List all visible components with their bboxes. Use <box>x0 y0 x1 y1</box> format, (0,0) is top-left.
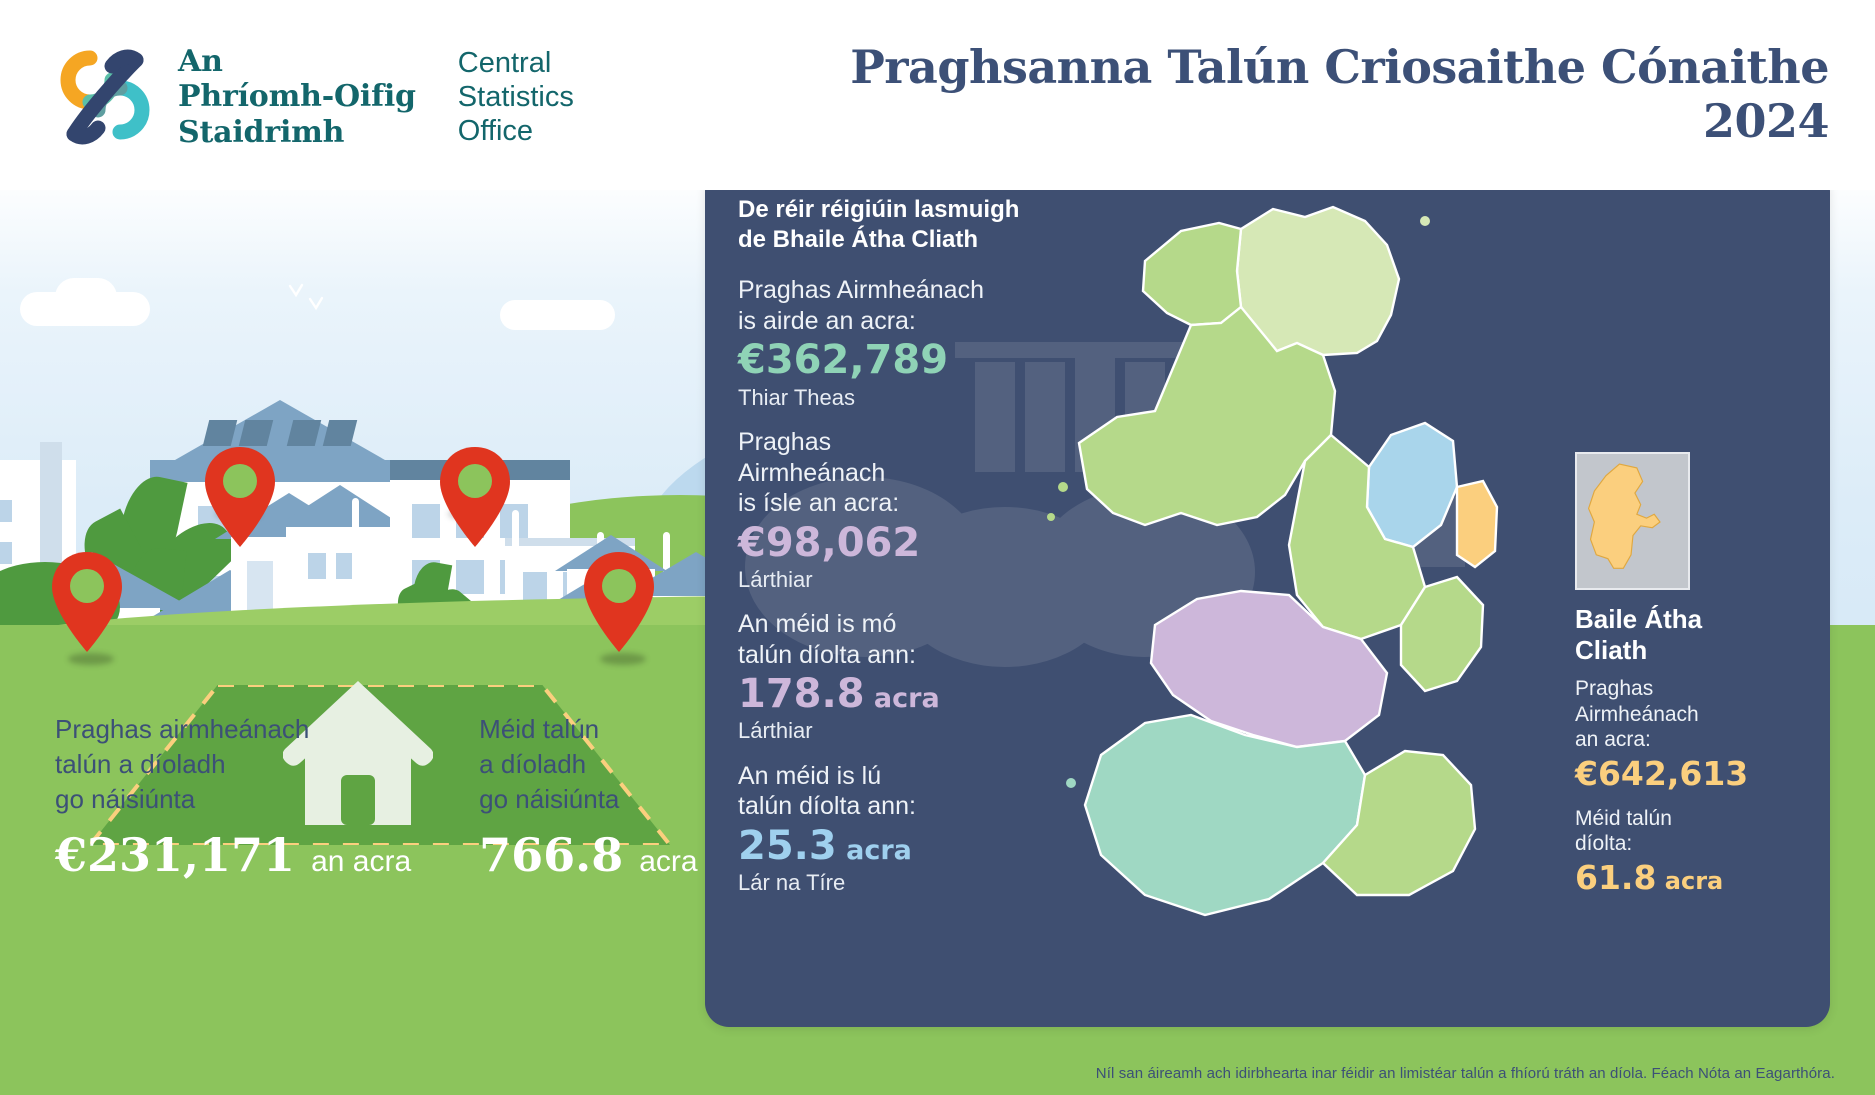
ireland-regions-map-icon <box>1005 195 1565 1015</box>
regional-panel: De réir réigiúin lasmuigh de Bhaile Átha… <box>705 167 1830 1027</box>
stat-median-price: Praghas airmheánach talún a díoladh go n… <box>55 712 411 880</box>
page-title-year: 2024 <box>850 94 1829 148</box>
panel-stat-0-value: €362,789 <box>738 337 1038 384</box>
pin-shadow-4 <box>600 653 646 665</box>
panel-stat-2-value: 178.8 acra <box>738 671 1038 718</box>
dublin-name: Baile Átha Cliath <box>1575 604 1790 666</box>
panel-stat-2-unit: acra <box>865 683 940 714</box>
stat-median-price-number: €231,171 <box>55 828 295 882</box>
stat-median-price-value: €231,171 an acra <box>55 831 411 879</box>
panel-stat-2-region: Lárthiar <box>738 718 1038 744</box>
panel-stat-3-label: An méid is lú talún díolta ann: <box>738 761 1038 822</box>
national-stats: Praghas airmheánach talún a díoladh go n… <box>55 712 695 880</box>
region-donegal <box>1143 223 1241 325</box>
panel-heading: De réir réigiúin lasmuigh de Bhaile Átha… <box>738 195 1038 255</box>
panel-stat-1-label: Praghas Airmheánach is ísle an acra: <box>738 427 1038 519</box>
cso-logo: An Phríomh-Oifig Staidrimh Central Stati… <box>48 38 574 156</box>
panel-stat-lowest-price: Praghas Airmheánach is ísle an acra: €98… <box>738 427 1038 593</box>
panel-stat-smallest-size: An méid is lú talún díolta ann: 25.3 acr… <box>738 761 1038 897</box>
region-mid-east <box>1367 423 1457 547</box>
stat-median-price-label: Praghas airmheánach talún a díoladh go n… <box>55 712 411 817</box>
dublin-size-label: Méid talún díolta: <box>1575 806 1790 856</box>
panel-stat-1-value: €98,062 <box>738 520 1038 567</box>
map-pin-2 <box>203 445 277 549</box>
panel-stat-1-number: €98,062 <box>738 520 920 566</box>
cso-infinity-logo-icon <box>48 38 160 156</box>
ireland-map-container <box>1005 195 1565 1015</box>
stat-median-size-label: Méid talún a díoladh go náisiúnta <box>479 712 697 817</box>
panel-stat-3-region: Lár na Tíre <box>738 870 1038 896</box>
stat-median-size-number: 766.8 <box>479 828 623 882</box>
panel-stat-1-region: Lárthiar <box>738 567 1038 593</box>
panel-stat-highest-price: Praghas Airmheánach is airde an acra: €3… <box>738 275 1038 411</box>
panel-stat-2-number: 178.8 <box>738 671 865 717</box>
region-dublin <box>1457 481 1497 567</box>
stat-median-size-unit: acra <box>639 845 697 878</box>
panel-stat-3-unit: acra <box>837 835 912 866</box>
birds-icon <box>288 282 348 322</box>
dublin-price-label: Praghas Airmheánach an acra: <box>1575 676 1790 752</box>
page-title-text: Praghsanna Talún Criosaithe Cónaithe <box>850 40 1829 94</box>
cso-logo-irish-name: An Phríomh-Oifig Staidrimh <box>178 44 416 150</box>
map-pin-4 <box>582 550 656 654</box>
panel-stat-3-number: 25.3 <box>738 823 837 869</box>
dublin-size-unit: acra <box>1656 867 1723 895</box>
stat-median-size: Méid talún a díoladh go náisiúnta 766.8 … <box>479 712 697 880</box>
dublin-block: Baile Átha Cliath Praghas Airmheánach an… <box>1575 452 1790 910</box>
map-pin-3 <box>438 445 512 549</box>
cso-logo-english-name: Central Statistics Office <box>458 46 574 149</box>
page-title: Praghsanna Talún Criosaithe Cónaithe 202… <box>850 40 1829 149</box>
dublin-size-value: 61.8 acra <box>1575 857 1790 900</box>
panel-stat-0-label: Praghas Airmheánach is airde an acra: <box>738 275 1038 336</box>
panel-stat-0-number: €362,789 <box>738 337 948 383</box>
stat-median-size-value: 766.8 acra <box>479 831 697 879</box>
header-band: An Phríomh-Oifig Staidrimh Central Stati… <box>0 0 1875 190</box>
panel-text-column: De réir réigiúin lasmuigh de Bhaile Átha… <box>738 195 1038 912</box>
cloud-2 <box>500 300 615 330</box>
pin-shadow-1 <box>68 653 114 665</box>
dublin-size-number: 61.8 <box>1575 858 1656 897</box>
dublin-county-map-icon <box>1575 452 1690 590</box>
dublin-price-value: €642,613 <box>1575 753 1790 796</box>
panel-stat-0-region: Thiar Theas <box>738 385 1038 411</box>
footnote: Níl san áireamh ach idirbhearta inar féi… <box>1096 1065 1835 1082</box>
panel-stat-largest-size: An méid is mó talún díolta ann: 178.8 ac… <box>738 609 1038 745</box>
stat-median-price-unit: an acra <box>311 845 411 878</box>
panel-stat-3-value: 25.3 acra <box>738 823 1038 870</box>
map-pin-1 <box>50 550 124 654</box>
panel-stat-2-label: An méid is mó talún díolta ann: <box>738 609 1038 670</box>
cloud-1b <box>55 278 117 316</box>
region-south-west <box>1085 715 1365 915</box>
